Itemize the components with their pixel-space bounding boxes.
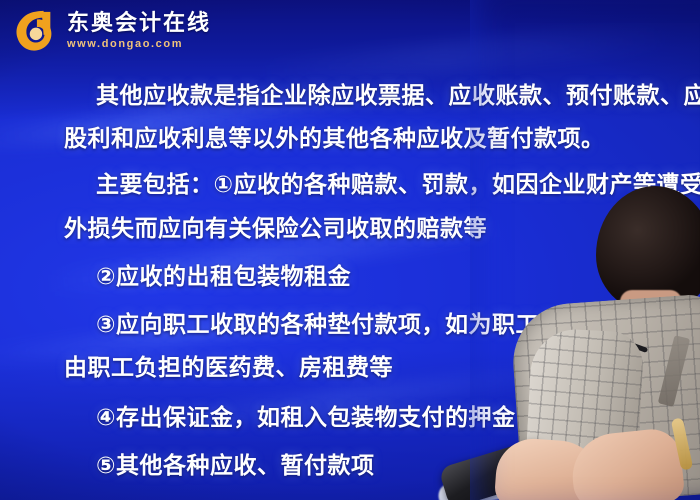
brand-name-cn: 东奥会计在线: [67, 12, 211, 34]
presenter-figure: [470, 0, 700, 500]
slide-line: ④存出保证金，如租入包装物支付的押金: [96, 398, 515, 432]
brand-logo: 东奥会计在线 www.dongao.com: [12, 8, 211, 54]
video-lecture-frame: 东奥会计在线 www.dongao.com 其他应收款是指企业除应收票据、应收账…: [0, 0, 700, 500]
slide-line: ②应收的出租包装物租金: [96, 257, 351, 291]
slide-line: 由职工负担的医药费、房租费等: [64, 348, 393, 382]
dongao-d-mark-icon: [12, 8, 58, 54]
slide-line: 外损失而应向有关保险公司收取的赔款等: [64, 209, 487, 243]
brand-url: www.dongao.com: [67, 39, 211, 50]
slide-line: ⑤其他各种应收、暂付款项: [96, 446, 374, 480]
brand-logo-text: 东奥会计在线 www.dongao.com: [67, 12, 211, 50]
